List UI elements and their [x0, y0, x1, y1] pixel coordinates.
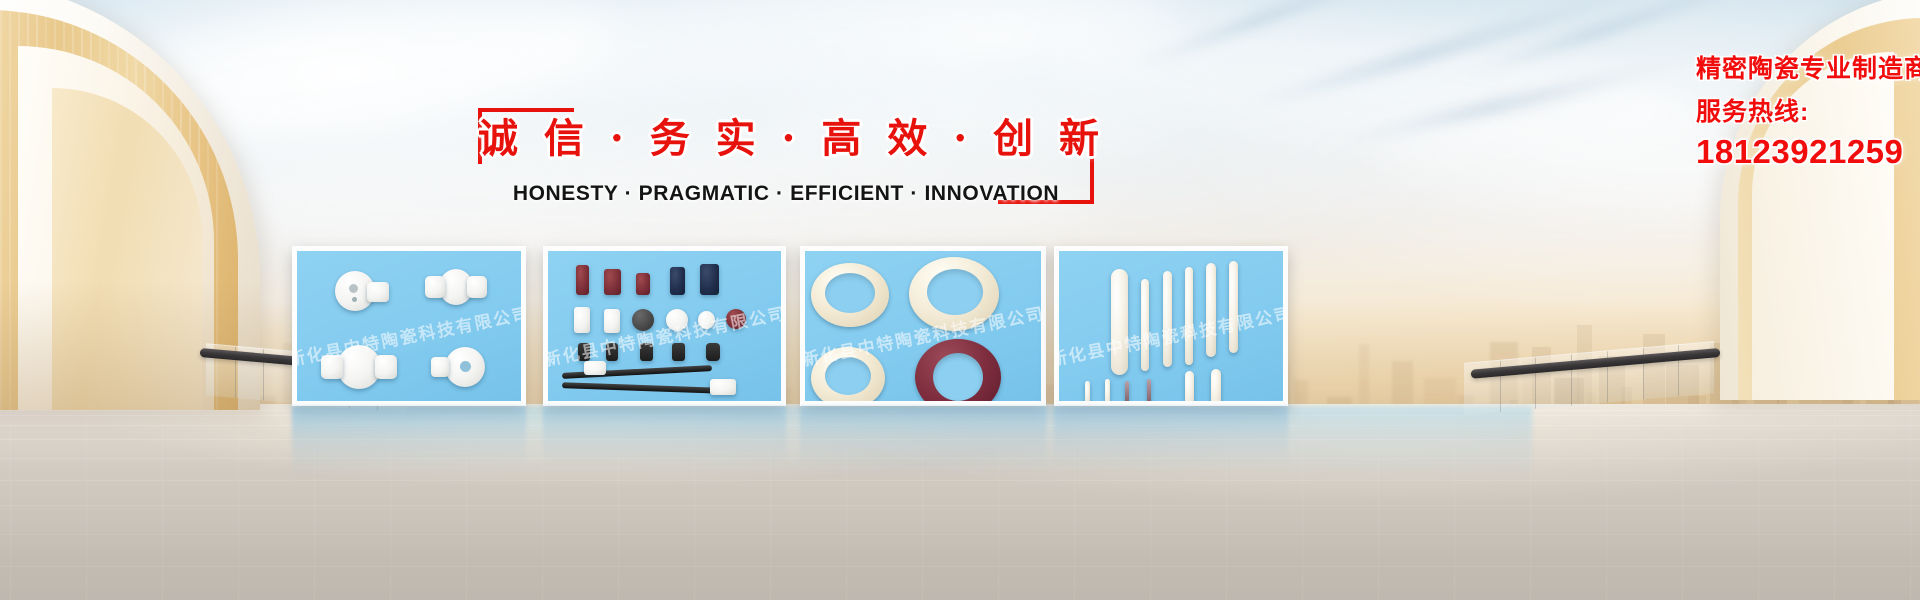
- ceramic-washer: [666, 309, 688, 331]
- contact-block: 精密陶瓷专业制造商 服务热线: 18123921259: [1460, 52, 1880, 172]
- ring-bore: [933, 353, 983, 401]
- terminal-cap: [640, 343, 653, 361]
- ceramic-bushing: [670, 267, 685, 295]
- ceramic-washer: [698, 311, 715, 329]
- hotline-phone[interactable]: 18123921259: [1460, 132, 1880, 172]
- ring-bore: [825, 273, 875, 313]
- ceramic-rod: [1141, 279, 1149, 371]
- ceramic-socket-flange: [375, 355, 397, 379]
- ring-bore: [825, 357, 871, 395]
- slogan-block: 诚 信 · 务 实 · 高 效 · 创 新 HONESTY · PRAGMATI…: [478, 108, 1094, 204]
- ceramic-socket-flange: [321, 355, 343, 379]
- product-panel-row: 新化县中特陶瓷科技有限公司 新化县中特陶瓷科技有限公: [292, 246, 1532, 406]
- ceramic-plate: [604, 309, 620, 333]
- ceramic-bushing: [700, 264, 719, 295]
- company-tagline: 精密陶瓷专业制造商: [1460, 52, 1880, 86]
- product-panel-2[interactable]: 新化县中特陶瓷科技有限公司: [543, 246, 786, 406]
- ceramic-pin: [1125, 381, 1129, 405]
- ceramic-rod: [1111, 269, 1128, 375]
- terminal-cap: [672, 343, 685, 361]
- ceramic-socket-part: [367, 282, 389, 302]
- product-panel-4[interactable]: 新化县中特陶瓷科技有限公司: [1054, 246, 1288, 406]
- slogan-chinese: 诚 信 · 务 实 · 高 效 · 创 新: [478, 106, 1094, 164]
- ceramic-pin: [1105, 379, 1110, 405]
- ceramic-rod: [1185, 267, 1193, 365]
- ceramic-rod: [1163, 271, 1172, 367]
- ceramic-socket-flange: [425, 276, 445, 298]
- terminal-cap: [578, 343, 590, 361]
- ceramic-rod: [1211, 369, 1221, 406]
- socket-hole: [352, 297, 357, 302]
- ceramic-pin: [1085, 381, 1090, 405]
- ceramic-socket-flange: [431, 357, 449, 377]
- socket-hole: [460, 361, 471, 372]
- ceramic-washer: [726, 309, 746, 329]
- ceramic-socket-flange: [467, 276, 487, 298]
- slogan-english: HONESTY · PRAGMATIC · EFFICIENT · INNOVA…: [478, 182, 1094, 206]
- product-panel-1[interactable]: 新化县中特陶瓷科技有限公司: [292, 246, 526, 406]
- ceramic-bushing: [604, 269, 621, 295]
- panel-reflection: [800, 406, 1046, 466]
- ceramic-bushing: [576, 265, 589, 295]
- ceramic-terminal-block: [710, 379, 736, 395]
- ceramic-pin: [1147, 379, 1151, 405]
- ceramic-rod: [1206, 263, 1216, 357]
- terminal-cap: [606, 343, 618, 361]
- hotline-label: 服务热线:: [1460, 92, 1880, 132]
- panel-reflection: [1054, 406, 1288, 466]
- ring-bore: [927, 269, 983, 315]
- panel-reflection: [543, 406, 786, 466]
- terminal-cap: [706, 343, 720, 361]
- ceramic-rod: [1229, 261, 1238, 353]
- ceramic-washer: [632, 309, 654, 331]
- socket-hole: [349, 284, 358, 293]
- ceramic-bushing: [636, 273, 650, 295]
- panel-reflection: [292, 406, 526, 466]
- product-panel-3[interactable]: 新化县中特陶瓷科技有限公司: [800, 246, 1046, 406]
- hero-banner: 诚 信 · 务 实 · 高 效 · 创 新 HONESTY · PRAGMATI…: [0, 0, 1920, 600]
- ceramic-plate: [574, 307, 590, 333]
- ceramic-rod: [1185, 371, 1194, 406]
- ceramic-terminal-block: [584, 361, 606, 375]
